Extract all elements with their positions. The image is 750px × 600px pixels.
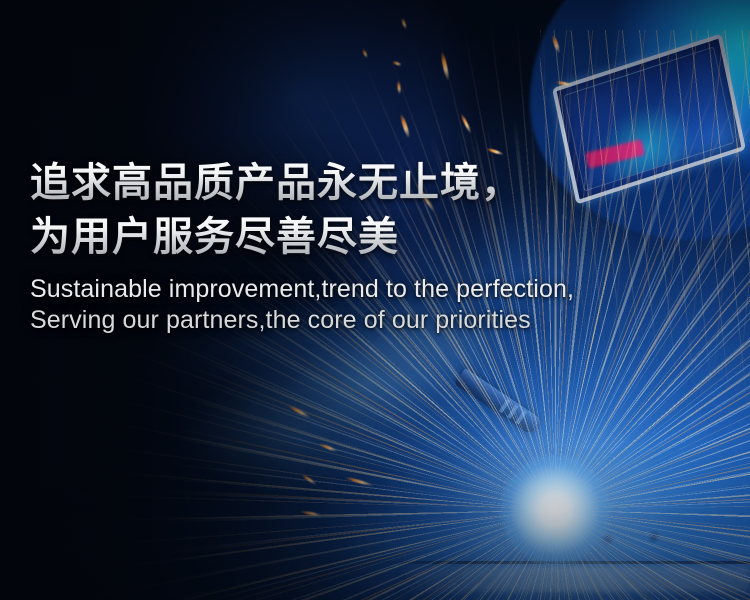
headline-line-2: 为用户服务尽善尽美 — [30, 210, 720, 264]
hero-copy-block: 追求高品质产品永无止境， 为用户服务尽善尽美 Sustainable impro… — [30, 156, 720, 336]
subheadline-line-2: Serving our partners,the core of our pri… — [30, 305, 720, 336]
subheadline-block: Sustainable improvement,trend to the per… — [30, 274, 720, 336]
welding-arc — [500, 455, 610, 565]
welding-hero-banner: 追求高品质产品永无止境， 为用户服务尽善尽美 Sustainable impro… — [0, 0, 750, 600]
headline-line-1: 追求高品质产品永无止境， — [30, 156, 720, 210]
subheadline-line-1: Sustainable improvement,trend to the per… — [30, 274, 720, 305]
